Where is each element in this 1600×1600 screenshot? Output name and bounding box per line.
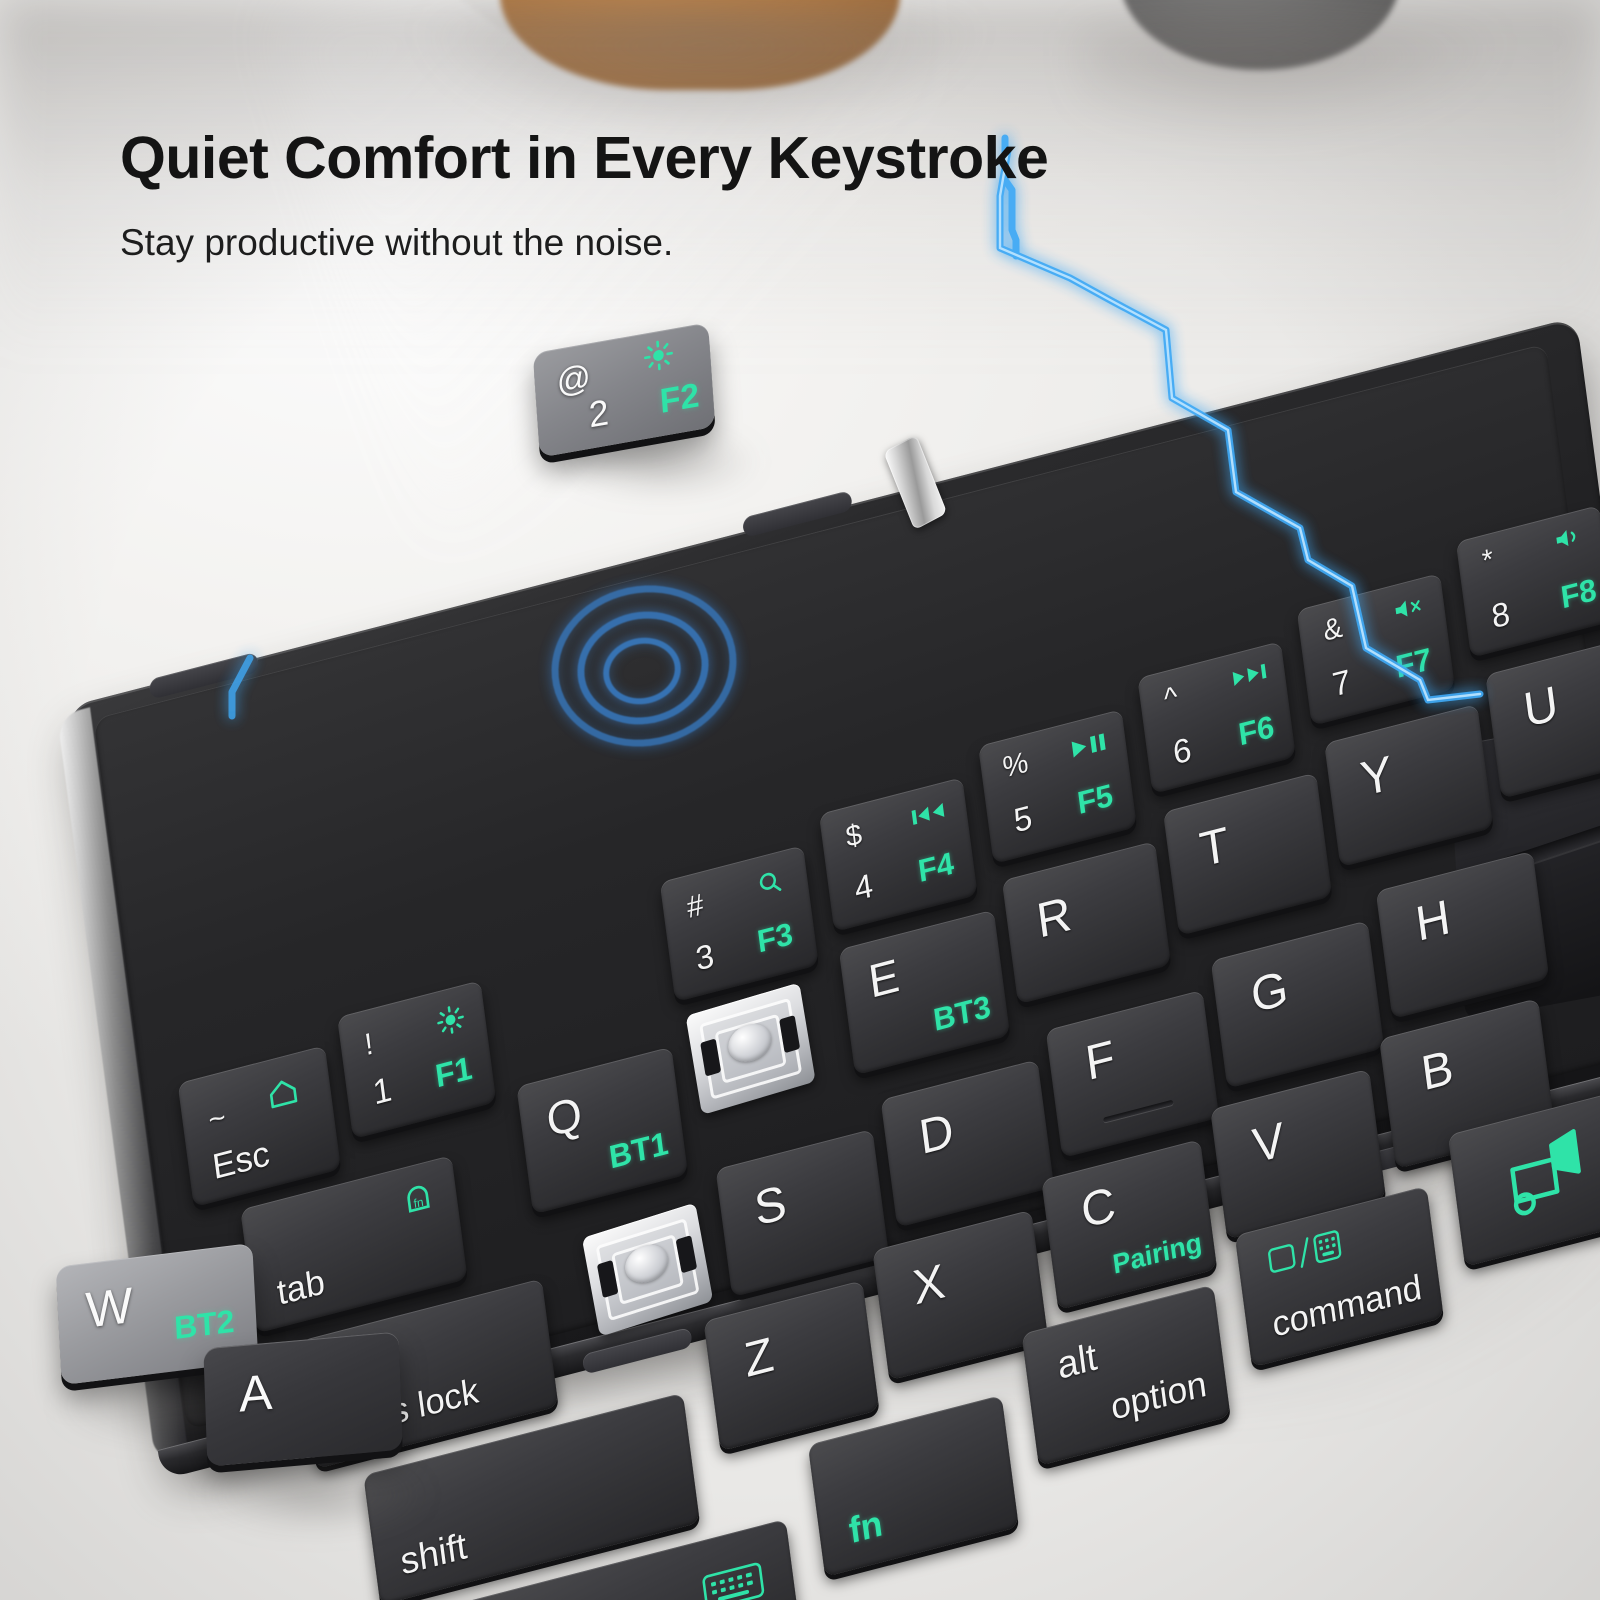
key-5-shift-label: % <box>1001 748 1030 783</box>
key-g-label: G <box>1248 964 1290 1021</box>
key-u-label: U <box>1521 680 1561 737</box>
backlight-keyboard-icon <box>700 1556 766 1600</box>
page-subtitle: Stay productive without the noise. <box>120 222 1470 264</box>
key-3-fn-label: F3 <box>755 918 794 958</box>
key-x-label: X <box>910 1258 947 1314</box>
key-fn-label: fn <box>847 1505 885 1549</box>
key-tab-label: tab <box>275 1264 327 1311</box>
brightness-up-icon <box>642 337 676 380</box>
key-c-label: C <box>1078 1180 1118 1237</box>
key-q-label: Q <box>544 1089 585 1144</box>
key-8-label: 8 <box>1490 596 1512 634</box>
key-4-label: 4 <box>853 868 875 906</box>
key-q-fn-label: BT1 <box>607 1126 670 1173</box>
key-z-label: Z <box>742 1331 777 1386</box>
fn-lock-icon: fn <box>399 1177 437 1221</box>
key-c-fn-label: Pairing <box>1111 1229 1203 1279</box>
product-scene: Quiet Comfort in Every Keystroke Stay pr… <box>0 0 1600 1600</box>
key-b-label: B <box>1419 1044 1456 1100</box>
key-1-shift-label: ! <box>363 1029 375 1061</box>
play-pause-icon <box>1069 730 1107 765</box>
key-h-label: H <box>1413 894 1453 951</box>
key-option-label: option <box>1109 1365 1209 1426</box>
svg-text:fn: fn <box>413 1195 425 1211</box>
quiet-keystroke-sound-rings <box>585 630 785 810</box>
key-4-shift-label: $ <box>844 820 863 853</box>
mute-icon <box>1391 592 1426 628</box>
key-6-shift-label: ^ <box>1162 683 1179 715</box>
key-shift-label: shift <box>398 1527 469 1581</box>
key-e-fn-label: BT3 <box>932 990 993 1036</box>
loose-key-w-fn-label: BT2 <box>173 1303 235 1347</box>
key-e-label: E <box>866 951 902 1005</box>
loose-key-a-label: A <box>238 1363 273 1424</box>
screen-cast-icon <box>1501 1125 1593 1226</box>
floating-key-fn-label: F2 <box>659 376 701 422</box>
key-esc-label: Esc <box>210 1136 271 1186</box>
headline-block: Quiet Comfort in Every Keystroke Stay pr… <box>120 128 1470 264</box>
loose-keycap-a-shadow <box>200 1460 430 1530</box>
home-icon <box>263 1073 303 1118</box>
key-8-shift-label: * <box>1481 545 1496 577</box>
key-7-fn-label: F7 <box>1394 643 1433 683</box>
loose-keycap-a[interactable]: A <box>203 1331 402 1466</box>
key-alt-label: alt <box>1055 1338 1099 1386</box>
key-esc-shift-label: ~ <box>207 1102 228 1136</box>
key-v-label: V <box>1250 1116 1287 1172</box>
key-5-label: 5 <box>1012 800 1034 838</box>
brightness-down-icon <box>434 1001 468 1042</box>
key-3-label: 3 <box>694 938 716 976</box>
key-1-fn-label: F1 <box>434 1051 474 1092</box>
key-7-shift-label: & <box>1322 613 1345 647</box>
search-icon <box>754 865 785 904</box>
device-switch-icon <box>1266 1225 1345 1284</box>
key-fn[interactable]: fn <box>808 1395 1019 1577</box>
key-s-label: S <box>752 1179 789 1235</box>
key-6-label: 6 <box>1171 732 1193 770</box>
key-f-label: F <box>1083 1034 1118 1089</box>
key-6-fn-label: F6 <box>1237 710 1276 750</box>
previous-track-icon <box>910 798 948 833</box>
key-7-label: 7 <box>1330 664 1352 702</box>
key-r-label: R <box>1034 890 1074 947</box>
key-d-label: D <box>917 1107 957 1164</box>
keyboard-body: ~ Esc ! 1 F1 <box>66 317 1600 1467</box>
homing-bar-icon <box>1103 1100 1173 1123</box>
floating-key-base-label: 2 <box>587 391 610 437</box>
page-title: Quiet Comfort in Every Keystroke <box>120 128 1470 190</box>
key-t-label: T <box>1197 821 1232 876</box>
volume-down-icon <box>1552 521 1587 557</box>
key-3-shift-label: # <box>685 890 705 924</box>
key-5-fn-label: F5 <box>1076 779 1115 819</box>
next-track-icon <box>1230 660 1268 695</box>
loose-key-w-label: W <box>84 1276 134 1340</box>
key-4-fn-label: F4 <box>916 847 955 887</box>
key-1-label: 1 <box>371 1072 394 1111</box>
key-y-label: Y <box>1358 749 1395 805</box>
key-8-fn-label: F8 <box>1559 573 1598 613</box>
